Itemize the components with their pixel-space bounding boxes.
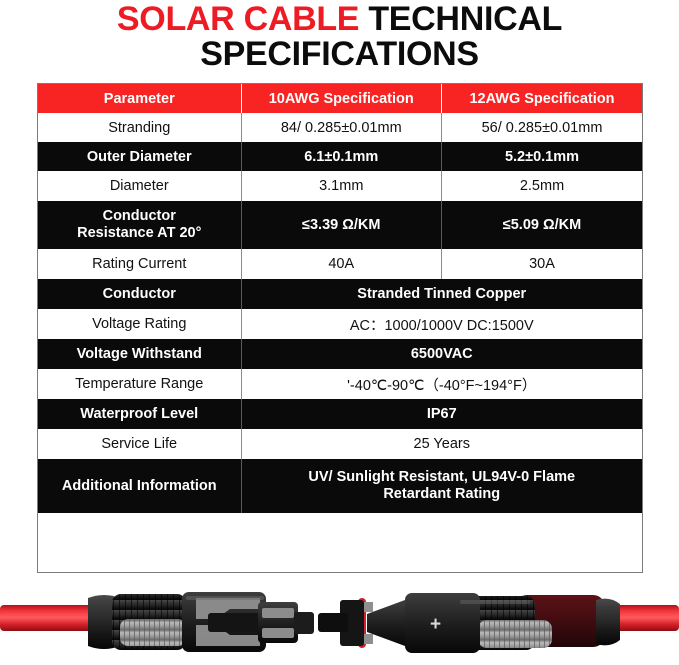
header-cell-12awg: 12AWG Specification [442, 84, 643, 113]
table-row-voltage-withstand: Voltage Withstand 6500VAC [38, 339, 642, 369]
title-line-2: SPECIFICATIONS [0, 37, 679, 72]
param-conductor-resistance-line1: Conductor [38, 208, 241, 225]
param-additional-information: Additional Information [38, 459, 241, 513]
value-additional-information-line2: Retardant Rating [242, 486, 643, 503]
page-title: SOLAR CABLE TECHNICAL SPECIFICATIONS [0, 2, 679, 73]
nose-left-notch-upper [262, 608, 294, 618]
value-rating-current-10awg: 40A [241, 249, 442, 279]
highlight-right [460, 600, 530, 604]
param-waterproof-level: Waterproof Level [38, 399, 241, 429]
value-diameter-12awg: 2.5mm [442, 171, 643, 201]
header-cell-10awg: 10AWG Specification [241, 84, 442, 113]
grip-left-gray [120, 619, 186, 646]
table-header-row: Parameter 10AWG Specification 12AWG Spec… [38, 84, 642, 113]
value-outer-diameter-12awg: 5.2±0.1mm [442, 142, 643, 171]
connector-right-female: + [318, 593, 679, 653]
table-row-additional-information: Additional Information UV/ Sunlight Resi… [38, 459, 642, 513]
header-cell-parameter: Parameter [38, 84, 241, 113]
connector-illustrations: + [0, 580, 679, 665]
title-line-1: SOLAR CABLE TECHNICAL [0, 2, 679, 37]
param-conductor-resistance-line2: Resistance AT 20° [38, 225, 241, 242]
tip-left [294, 612, 314, 634]
value-waterproof-level: IP67 [241, 399, 642, 429]
boot-right [596, 599, 620, 646]
param-diameter: Diameter [38, 171, 241, 201]
connector-image-pair: + [0, 580, 679, 665]
param-service-life: Service Life [38, 429, 241, 459]
value-stranding-12awg: 56/ 0.285±0.01mm [442, 113, 643, 142]
table-row-rating-current: Rating Current 40A 30A [38, 249, 642, 279]
table-row-temperature-range: Temperature Range '-40℃-90℃（-40°F~194°F） [38, 369, 642, 399]
table-row-conductor-resistance: Conductor Resistance AT 20° ≤3.39 Ω/KM ≤… [38, 201, 642, 249]
value-stranding-10awg: 84/ 0.285±0.01mm [241, 113, 442, 142]
polarity-plus-label: + [430, 614, 441, 635]
title-technical: TECHNICAL [359, 0, 562, 38]
param-rating-current: Rating Current [38, 249, 241, 279]
value-voltage-withstand: 6500VAC [241, 339, 642, 369]
value-temperature-range: '-40℃-90℃（-40°F~194°F） [241, 369, 642, 399]
value-diameter-10awg: 3.1mm [241, 171, 442, 201]
param-voltage-rating: Voltage Rating [38, 309, 241, 339]
highlight-left [186, 596, 264, 600]
title-solar-cable: SOLAR CABLE [117, 0, 359, 38]
param-temperature-range: Temperature Range [38, 369, 241, 399]
value-outer-diameter-10awg: 6.1±0.1mm [241, 142, 442, 171]
param-conductor: Conductor [38, 279, 241, 309]
table-row-outer-diameter: Outer Diameter 6.1±0.1mm 5.2±0.1mm [38, 142, 642, 171]
param-stranding: Stranding [38, 113, 241, 142]
table-row-conductor: Conductor Stranded Tinned Copper [38, 279, 642, 309]
grip-right-gray [478, 620, 552, 648]
nose-left-notch-lower [262, 628, 294, 638]
value-conductor-resistance-12awg: ≤5.09 Ω/KM [442, 201, 643, 249]
value-conductor: Stranded Tinned Copper [241, 279, 642, 309]
table-row-stranding: Stranding 84/ 0.285±0.01mm 56/ 0.285±0.0… [38, 113, 642, 142]
param-voltage-withstand: Voltage Withstand [38, 339, 241, 369]
connector-left-male [0, 592, 314, 652]
specifications-table: Parameter 10AWG Specification 12AWG Spec… [38, 84, 642, 513]
param-conductor-resistance: Conductor Resistance AT 20° [38, 201, 241, 249]
table-row-diameter: Diameter 3.1mm 2.5mm [38, 171, 642, 201]
value-service-life: 25 Years [241, 429, 642, 459]
table-row-service-life: Service Life 25 Years [38, 429, 642, 459]
socket-pin-right [318, 613, 348, 632]
value-conductor-resistance-10awg: ≤3.39 Ω/KM [241, 201, 442, 249]
value-voltage-rating: AC：1000/1000V DC:1500V [241, 309, 642, 339]
value-additional-information: UV/ Sunlight Resistant, UL94V-0 Flame Re… [241, 459, 642, 513]
table-row-voltage-rating: Voltage Rating AC：1000/1000V DC:1500V [38, 309, 642, 339]
value-additional-information-line1: UV/ Sunlight Resistant, UL94V-0 Flame [242, 469, 643, 486]
param-outer-diameter: Outer Diameter [38, 142, 241, 171]
cable-left-red [0, 605, 100, 631]
value-rating-current-12awg: 30A [442, 249, 643, 279]
table-row-waterproof-level: Waterproof Level IP67 [38, 399, 642, 429]
